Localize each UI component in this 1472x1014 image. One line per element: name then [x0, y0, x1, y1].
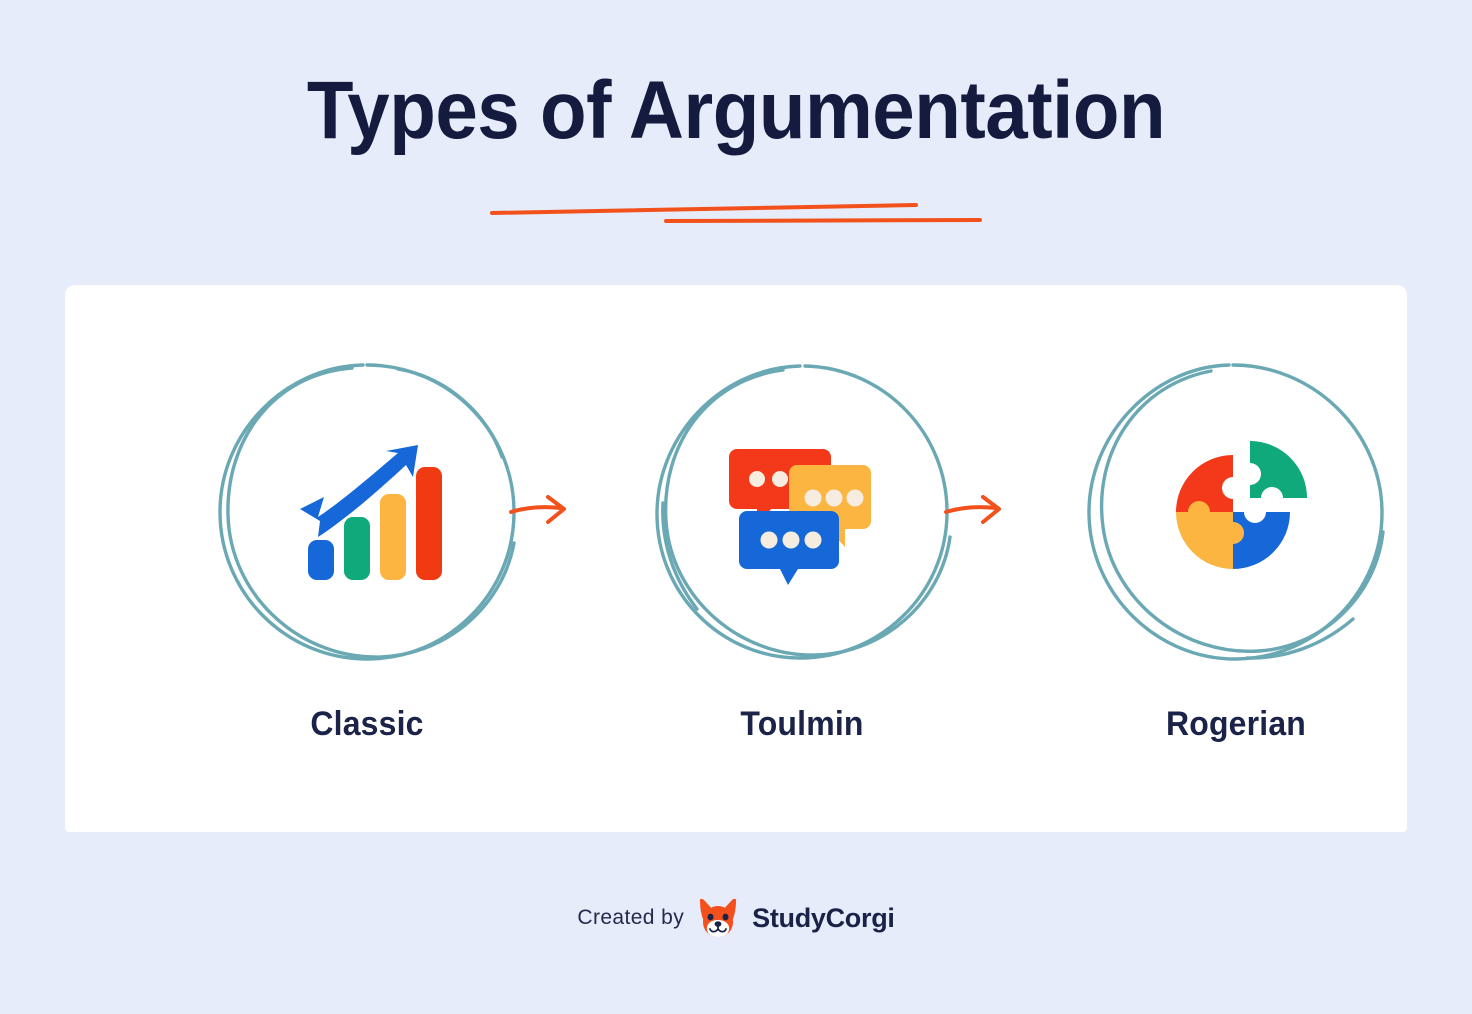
circle-rogerian — [1071, 347, 1401, 677]
step-classic[interactable]: Classic — [202, 347, 532, 744]
bar-blue — [308, 540, 334, 580]
infographic-page: Types of Argumentation — [0, 0, 1472, 1014]
brand-name: StudyCorgi — [752, 903, 895, 934]
puzzle-piece-teal — [1250, 441, 1307, 498]
circle-toulmin — [637, 347, 967, 677]
bar-green — [344, 517, 370, 580]
page-title: Types of Argumentation — [52, 70, 1421, 152]
step-label-toulmin: Toulmin — [647, 705, 957, 744]
title-underline-decoration — [0, 188, 1472, 238]
title-block: Types of Argumentation — [0, 70, 1472, 152]
arrow-toulmin-to-rogerian-icon — [934, 481, 1014, 541]
growth-bar-chart-icon — [287, 432, 447, 592]
content-card: Classic — [65, 285, 1407, 832]
bar-yellow — [380, 494, 406, 580]
speech-bubble-blue — [739, 511, 839, 585]
puzzle-piece-blue — [1233, 512, 1290, 569]
step-label-rogerian: Rogerian — [1081, 705, 1391, 744]
step-rogerian[interactable]: Rogerian — [1071, 347, 1401, 744]
studycorgi-corgi-logo — [696, 898, 740, 938]
circular-puzzle-icon — [1156, 432, 1316, 592]
step-toulmin[interactable]: Toulmin — [637, 347, 967, 744]
footer-credit: Created by StudyCorgi — [0, 898, 1472, 938]
arrow-classic-to-toulmin-icon — [499, 481, 579, 541]
speech-bubbles-icon — [722, 432, 882, 592]
created-by-label: Created by — [577, 906, 684, 930]
steps-container: Classic — [65, 285, 1407, 832]
step-label-classic: Classic — [212, 705, 522, 744]
bar-red — [416, 467, 442, 580]
circle-classic — [202, 347, 532, 677]
